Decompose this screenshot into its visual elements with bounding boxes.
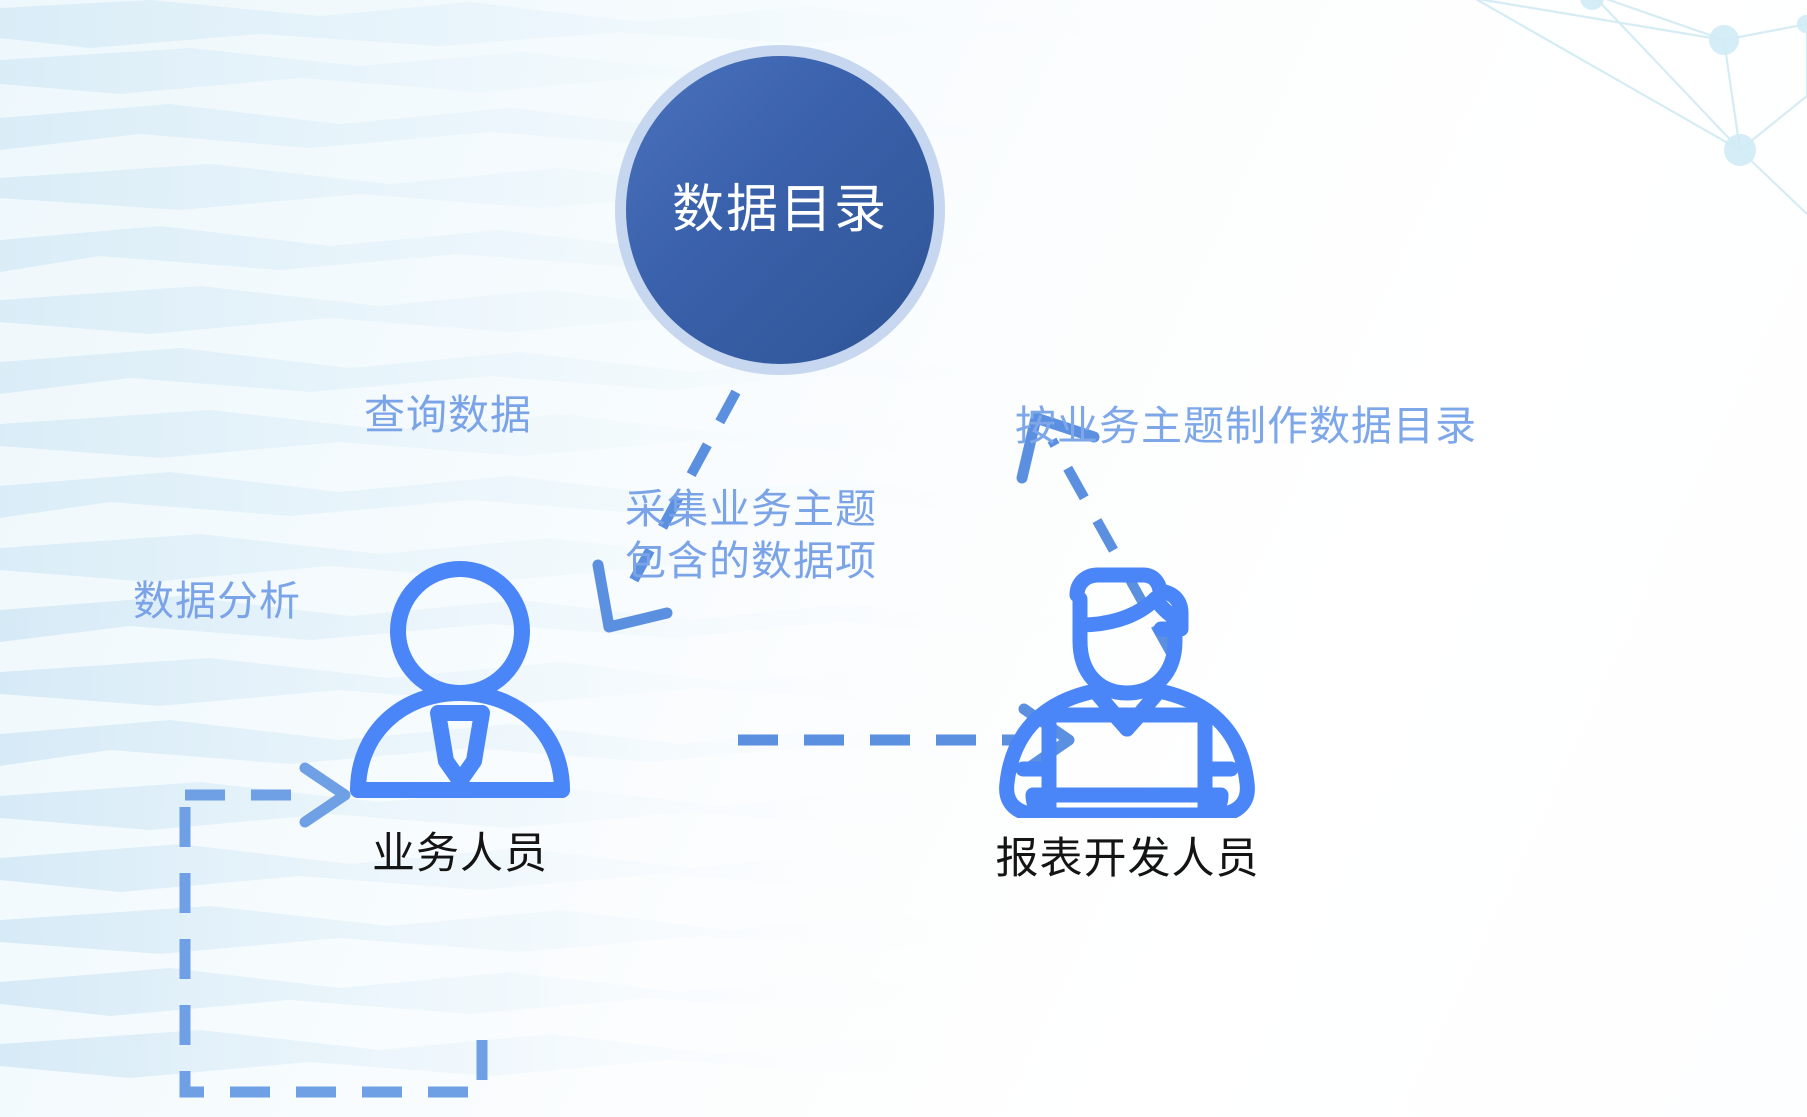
actor-report-developer[interactable]: 报表开发人员 — [985, 533, 1270, 886]
person-with-tie-icon — [330, 553, 590, 813]
actor-report-developer-label: 报表开发人员 — [996, 824, 1260, 886]
edge-label-data-analysis: 数据分析 — [133, 575, 301, 627]
actor-business-person-label: 业务人员 — [372, 819, 548, 881]
data-catalog-node[interactable]: 数据目录 — [626, 56, 934, 364]
edge-label-collect-items: 采集业务主题 包含的数据项 — [625, 483, 877, 588]
edge-label-collect-line2: 包含的数据项 — [625, 535, 877, 587]
edge-label-collect-line1: 采集业务主题 — [625, 483, 877, 535]
diagram-canvas: 数据目录 查询数据 按业务主题制作数据目录 采集业务主题 包含的数据项 数据分析… — [0, 0, 1807, 1117]
actor-business-person[interactable]: 业务人员 — [330, 553, 590, 881]
data-catalog-label: 数据目录 — [672, 184, 888, 236]
person-with-laptop-icon — [985, 533, 1270, 818]
edge-label-query-data: 查询数据 — [364, 389, 532, 441]
edge-label-make-catalog: 按业务主题制作数据目录 — [1015, 400, 1477, 452]
